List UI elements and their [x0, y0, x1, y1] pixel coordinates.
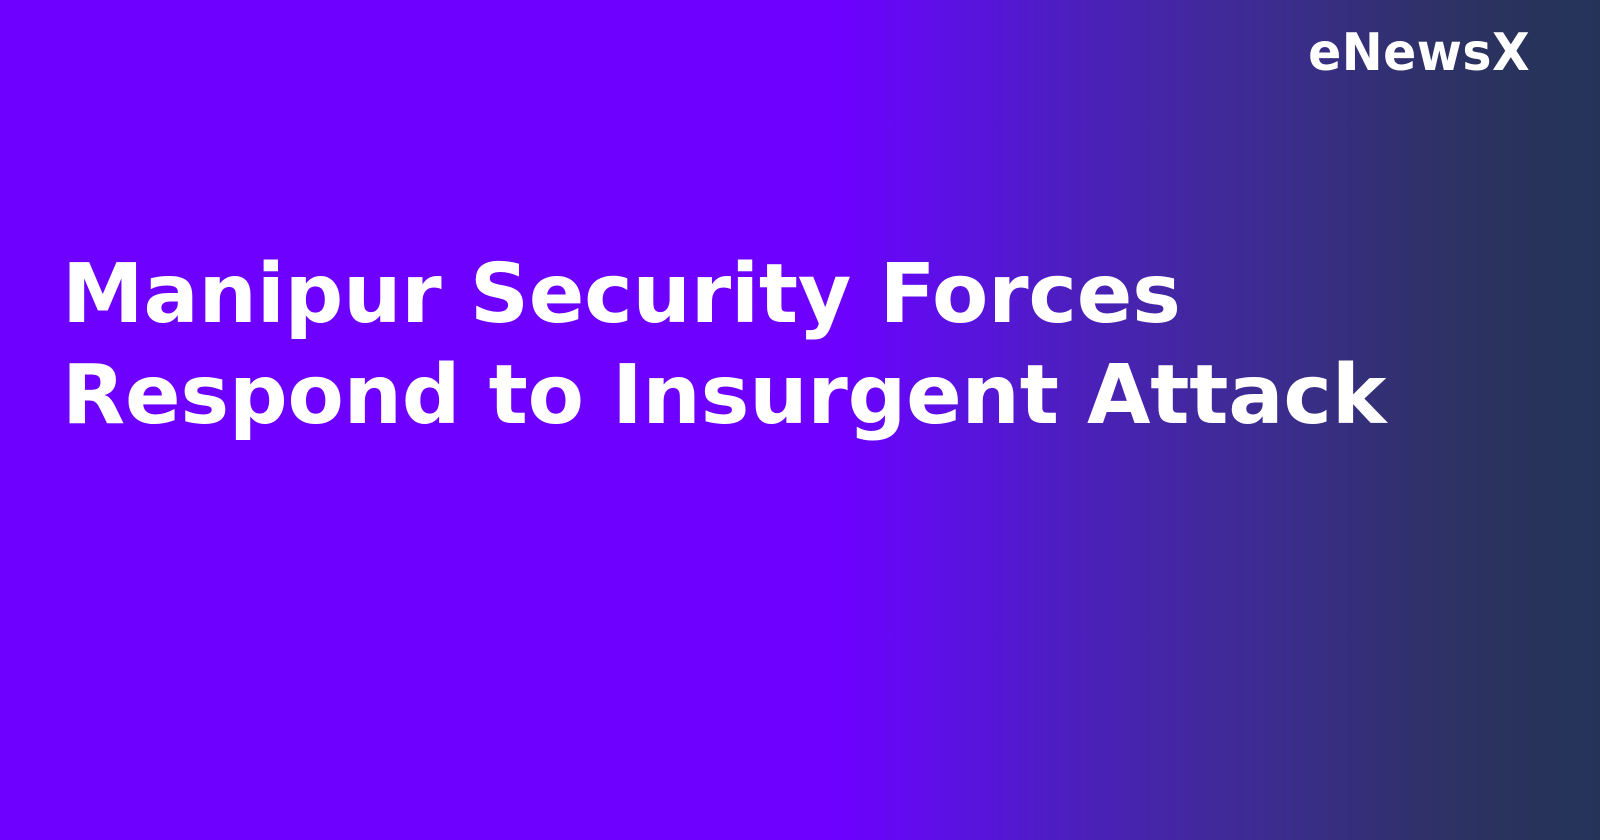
brand-logo[interactable]: eNewsX — [1294, 26, 1530, 81]
headline-block: Manipur Security Forces Respond to Insur… — [62, 244, 1480, 446]
brand-wordmark: eNewsX — [1308, 26, 1530, 81]
page-title: Manipur Security Forces Respond to Insur… — [62, 244, 1480, 446]
news-card: eNewsX Manipur Security Forces Respond t… — [0, 0, 1600, 840]
